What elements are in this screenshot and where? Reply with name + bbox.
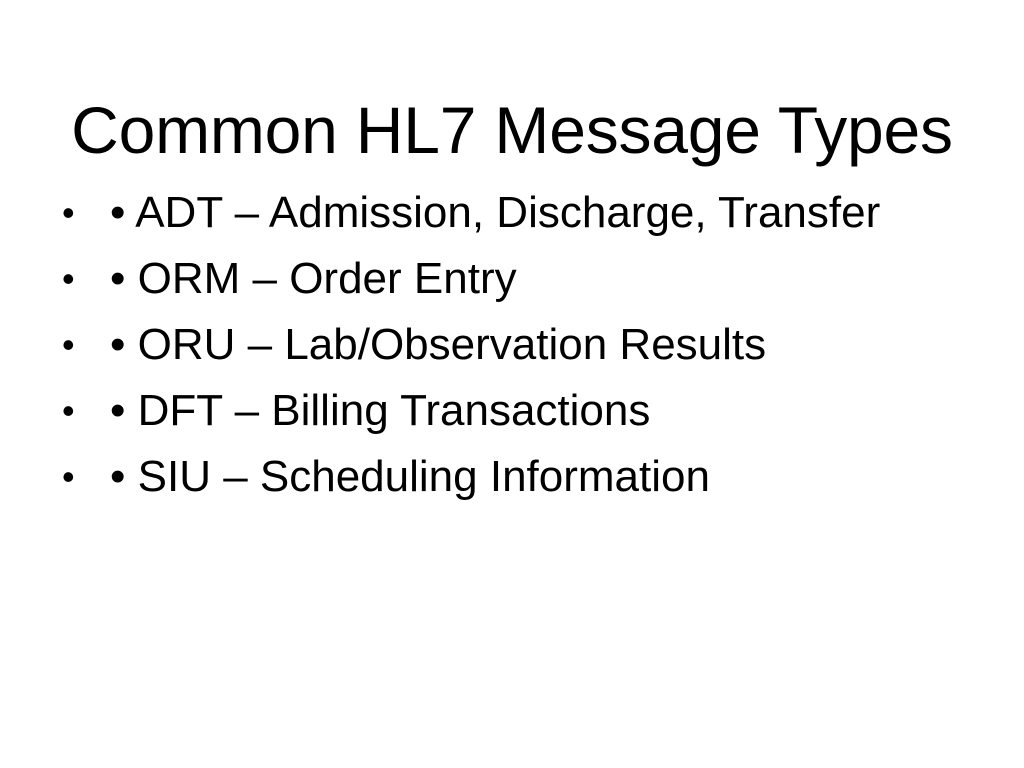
list-item: • • ADT – Admission, Discharge, Transfer: [58, 180, 984, 246]
list-item-label: • ORM – Order Entry: [110, 254, 517, 303]
list-item-label: • ORU – Lab/Observation Results: [110, 320, 766, 369]
bullet-icon: •: [62, 180, 86, 246]
list-item: • • DFT – Billing Transactions: [58, 378, 984, 444]
list-item: • • ORM – Order Entry: [58, 246, 984, 312]
list-item-label: • ADT – Admission, Discharge, Transfer: [110, 188, 880, 237]
list-item-label: • DFT – Billing Transactions: [110, 386, 650, 435]
presentation-slide: Common HL7 Message Types • • ADT – Admis…: [0, 0, 1024, 768]
slide-content-body: • • ADT – Admission, Discharge, Transfer…: [58, 180, 984, 510]
list-item-label: • SIU – Scheduling Information: [110, 452, 710, 501]
list-item: • • ORU – Lab/Observation Results: [58, 312, 984, 378]
bullet-icon: •: [62, 246, 86, 312]
message-types-list: • • ADT – Admission, Discharge, Transfer…: [58, 180, 984, 510]
list-item: • • SIU – Scheduling Information: [58, 444, 984, 510]
bullet-icon: •: [62, 312, 86, 378]
bullet-icon: •: [62, 444, 86, 510]
page-title: Common HL7 Message Types: [0, 96, 1024, 165]
bullet-icon: •: [62, 378, 86, 444]
